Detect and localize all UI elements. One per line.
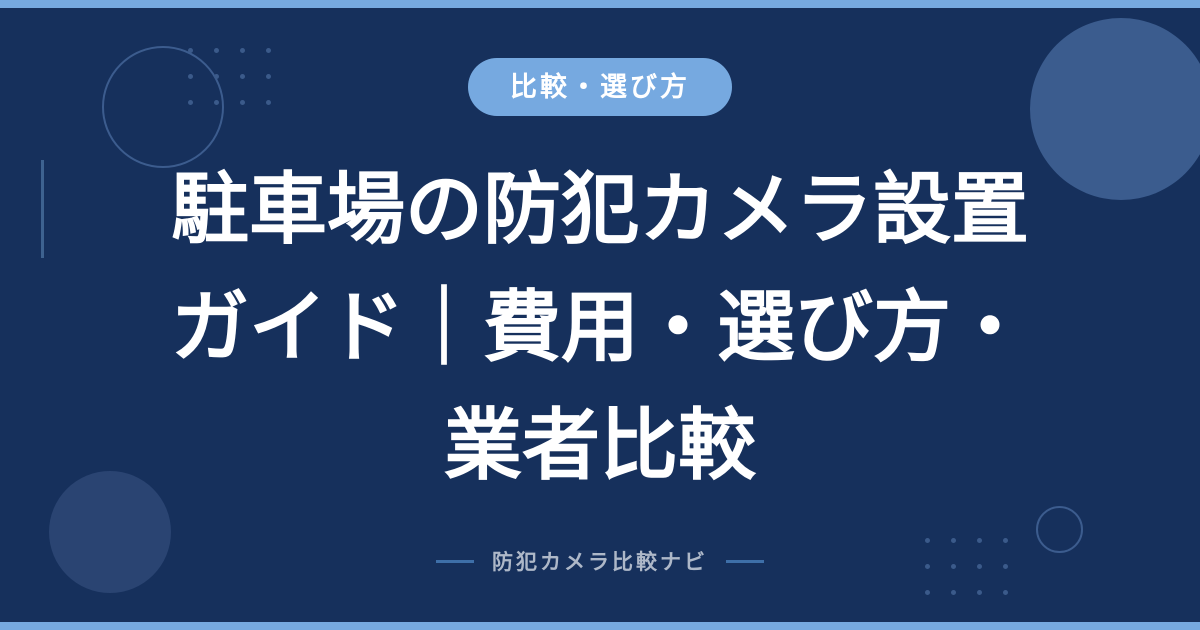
site-name-footer: 防犯カメラ比較ナビ xyxy=(0,546,1200,576)
page-title-line-3: 業者比較 xyxy=(70,386,1130,504)
footer-rule-left xyxy=(436,560,474,563)
banner-content: 比較・選び方 駐車場の防犯カメラ設置 ガイド｜費用・選び方・ 業者比較 防犯カメ… xyxy=(0,0,1200,630)
site-name-label: 防犯カメラ比較ナビ xyxy=(492,546,708,576)
page-title-line-2: ガイド｜費用・選び方・ xyxy=(70,268,1130,386)
og-image-banner: 比較・選び方 駐車場の防犯カメラ設置 ガイド｜費用・選び方・ 業者比較 防犯カメ… xyxy=(0,0,1200,630)
page-title-line-1: 駐車場の防犯カメラ設置 xyxy=(70,150,1130,268)
footer-rule-right xyxy=(726,560,764,563)
category-badge: 比較・選び方 xyxy=(468,58,732,116)
page-title: 駐車場の防犯カメラ設置 ガイド｜費用・選び方・ 業者比較 xyxy=(70,150,1130,504)
